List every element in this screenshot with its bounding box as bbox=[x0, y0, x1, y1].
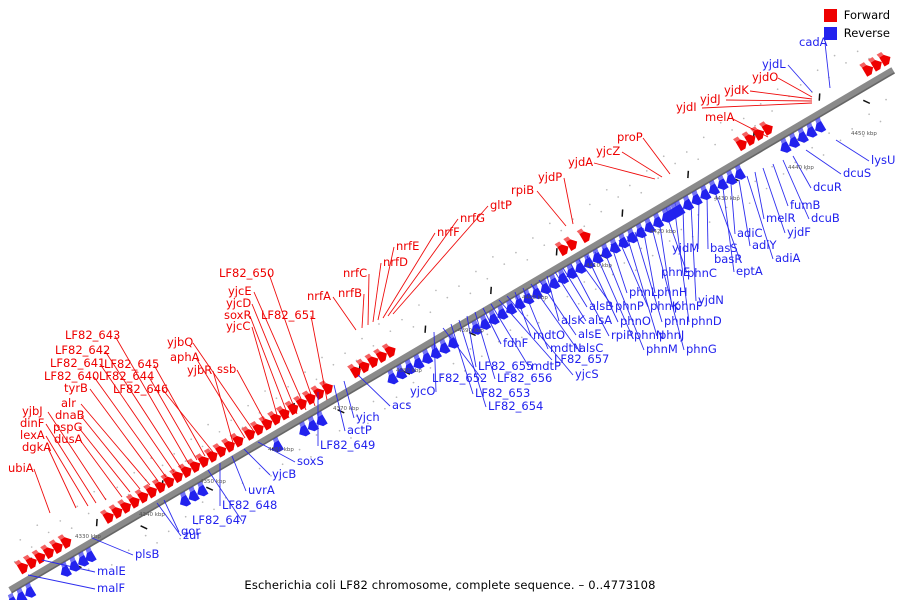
gene-label[interactable]: LF82_648 bbox=[222, 500, 277, 511]
guide-dot bbox=[640, 248, 642, 250]
guide-dot bbox=[401, 319, 403, 321]
genome-map-canvas: 4330 kbp4340 kbp4350 kbp4360 kbp4370 kbp… bbox=[0, 0, 900, 600]
guide-dot bbox=[583, 225, 585, 227]
guide-dot bbox=[754, 125, 756, 127]
gene-label[interactable]: yjcD bbox=[226, 298, 251, 309]
guide-dot bbox=[173, 453, 175, 455]
guide-dot bbox=[674, 163, 676, 165]
guide-dot bbox=[93, 491, 95, 493]
gene-label[interactable]: LF82_640 bbox=[44, 371, 99, 382]
guide-dot bbox=[116, 487, 118, 489]
gene-leader-line bbox=[594, 163, 655, 179]
guide-dot bbox=[339, 430, 341, 432]
gene-label[interactable]: yjcC bbox=[226, 321, 250, 332]
guide-dot bbox=[560, 230, 562, 232]
guide-dot bbox=[168, 531, 170, 533]
gene-label[interactable]: yjdM bbox=[672, 243, 699, 254]
guide-dot bbox=[71, 527, 73, 529]
guide-dot bbox=[162, 464, 164, 466]
guide-dot bbox=[333, 364, 335, 366]
figure-caption: Escherichia coli LF82 chromosome, comple… bbox=[0, 578, 900, 592]
guide-dot bbox=[321, 357, 323, 359]
guide-dot bbox=[686, 151, 688, 153]
gene-label[interactable]: eptA bbox=[736, 266, 763, 277]
legend: Forward Reverse bbox=[824, 8, 890, 44]
gene-leader-line bbox=[643, 228, 655, 293]
gene-leader-line bbox=[250, 316, 289, 418]
gene-label[interactable]: yjdA bbox=[568, 157, 593, 168]
scale-tick-label: 4430 kbp bbox=[714, 196, 740, 202]
gene-leader-line bbox=[773, 164, 788, 206]
guide-dot bbox=[526, 259, 528, 261]
gene-label[interactable]: phnL bbox=[629, 287, 657, 298]
guide-dot bbox=[709, 221, 711, 223]
gene-label[interactable]: lexA bbox=[20, 430, 45, 441]
gene-label[interactable]: rpiB bbox=[511, 185, 534, 196]
scale-tick-label: 4450 kbp bbox=[851, 131, 877, 137]
guide-dot bbox=[663, 155, 665, 157]
guide-dot bbox=[213, 508, 215, 510]
gene-label[interactable]: alsC bbox=[579, 343, 603, 354]
gene-label[interactable]: phnH bbox=[657, 287, 688, 298]
guide-dot bbox=[453, 363, 455, 365]
gene-label[interactable]: alsB bbox=[589, 301, 613, 312]
gene-label[interactable]: phnD bbox=[691, 316, 722, 327]
guide-dot bbox=[190, 438, 192, 440]
gene-leader-line bbox=[778, 78, 812, 97]
guide-dot bbox=[606, 189, 608, 191]
guide-dot bbox=[36, 524, 38, 526]
gene-arrow[interactable] bbox=[735, 164, 746, 179]
gene-leader-line bbox=[643, 138, 670, 174]
gene-label[interactable]: soxR bbox=[224, 310, 251, 321]
gene-label[interactable]: nrfA bbox=[307, 291, 331, 302]
gene-leader-line bbox=[81, 416, 140, 489]
gene-label[interactable]: aphA bbox=[170, 352, 200, 363]
gene-label[interactable]: melA bbox=[705, 112, 734, 123]
gene-label[interactable]: qor bbox=[181, 526, 200, 537]
guide-dot bbox=[743, 118, 745, 120]
gene-label[interactable]: yjdI bbox=[676, 102, 697, 113]
guide-dot bbox=[600, 211, 602, 213]
guide-dot bbox=[840, 140, 842, 142]
guide-dot bbox=[59, 520, 61, 522]
gene-leader-line bbox=[48, 448, 76, 508]
gene-label[interactable]: rpiR bbox=[611, 330, 634, 341]
guide-dot bbox=[549, 222, 551, 224]
scale-tick-label: 4380 kbp bbox=[396, 368, 422, 374]
gene-leader-line bbox=[237, 370, 268, 427]
guide-dot bbox=[487, 334, 489, 336]
gene-label[interactable]: nrfD bbox=[383, 257, 408, 268]
guide-dot bbox=[868, 113, 870, 115]
guide-dot bbox=[680, 229, 682, 231]
guide-dot bbox=[48, 532, 50, 534]
guide-dot bbox=[492, 256, 494, 258]
guide-dot bbox=[703, 137, 705, 139]
guide-dot bbox=[629, 185, 631, 187]
gene-leader-line bbox=[163, 390, 213, 452]
guide-dot bbox=[413, 326, 415, 328]
gene-leader-line bbox=[564, 178, 573, 224]
gene-label[interactable]: nrfC bbox=[343, 268, 367, 279]
gene-label[interactable]: mdtN bbox=[550, 343, 582, 354]
gene-label[interactable]: melR bbox=[766, 213, 795, 224]
guide-dot bbox=[287, 386, 289, 388]
guide-dot bbox=[316, 379, 318, 381]
gene-label[interactable]: yjbR bbox=[187, 365, 212, 376]
guide-dot bbox=[771, 166, 773, 168]
axis-tick-mark bbox=[206, 487, 213, 490]
guide-dot bbox=[475, 271, 477, 273]
guide-dot bbox=[731, 129, 733, 131]
guide-dot bbox=[657, 177, 659, 179]
guide-dot bbox=[652, 255, 654, 257]
guide-dot bbox=[543, 244, 545, 246]
guide-dot bbox=[834, 55, 836, 57]
gene-arrow[interactable] bbox=[14, 560, 28, 575]
scale-tick-label: 4410 kbp bbox=[586, 263, 612, 269]
guide-dot bbox=[373, 401, 375, 403]
guide-dot bbox=[344, 352, 346, 354]
gene-label[interactable]: nrfG bbox=[460, 213, 485, 224]
gene-arrow[interactable] bbox=[859, 62, 873, 77]
gene-label[interactable]: dusA bbox=[54, 434, 82, 445]
guide-dot bbox=[145, 535, 147, 537]
guide-dot bbox=[697, 158, 699, 160]
gene-leader-line bbox=[788, 65, 812, 92]
guide-dot bbox=[595, 288, 597, 290]
guide-dot bbox=[527, 315, 529, 317]
guide-dot bbox=[133, 472, 135, 474]
guide-dot bbox=[185, 460, 187, 462]
gene-label[interactable]: plsB bbox=[135, 549, 159, 560]
gene-label[interactable]: yjdL bbox=[762, 59, 786, 70]
legend-label-forward: Forward bbox=[844, 9, 890, 22]
gene-label[interactable]: acs bbox=[392, 400, 411, 411]
scale-tick-label: 4330 kbp bbox=[75, 534, 101, 540]
gene-label[interactable]: yjbQ bbox=[167, 337, 193, 348]
guide-dot bbox=[811, 147, 813, 149]
gene-label[interactable]: uvrA bbox=[248, 485, 275, 496]
gene-label[interactable]: adiY bbox=[752, 240, 777, 251]
gene-label[interactable]: LF82_641 bbox=[50, 358, 105, 369]
guide-dot bbox=[418, 304, 420, 306]
guide-dot bbox=[88, 568, 90, 570]
guide-dot bbox=[88, 513, 90, 515]
gene-label[interactable]: phnM bbox=[646, 344, 678, 355]
guide-dot bbox=[532, 237, 534, 239]
guide-dot bbox=[264, 390, 266, 392]
guide-dot bbox=[623, 262, 625, 264]
gene-leader-line bbox=[362, 294, 364, 328]
legend-item-forward[interactable]: Forward bbox=[824, 8, 890, 22]
guide-dot bbox=[316, 434, 318, 436]
gene-label[interactable]: yjcS bbox=[575, 369, 599, 380]
guide-dot bbox=[578, 303, 580, 305]
gene-label[interactable]: LF82_643 bbox=[65, 330, 120, 341]
gene-label[interactable]: LF82_644 bbox=[99, 371, 154, 382]
guide-dot bbox=[851, 128, 853, 130]
gene-label[interactable]: dcuS bbox=[843, 168, 871, 179]
gene-label[interactable]: fumB bbox=[790, 200, 820, 211]
guide-dot bbox=[828, 132, 830, 134]
gene-label[interactable]: malE bbox=[97, 566, 126, 577]
gene-label[interactable]: pspG bbox=[53, 422, 83, 433]
gene-leader-line bbox=[213, 371, 233, 443]
guide-dot bbox=[885, 99, 887, 101]
gene-label[interactable]: phnI bbox=[664, 316, 689, 327]
gene-label[interactable]: phnG bbox=[686, 344, 717, 355]
gene-leader-line bbox=[726, 100, 812, 101]
gene-arrow[interactable] bbox=[815, 117, 826, 132]
gene-leader-line bbox=[793, 156, 811, 188]
gene-label[interactable]: yjcB bbox=[272, 469, 296, 480]
gene-label[interactable]: tyrB bbox=[64, 383, 88, 394]
gene-label[interactable]: LF82_645 bbox=[104, 359, 159, 370]
gene-label[interactable]: alsE bbox=[578, 329, 602, 340]
gene-arrow[interactable] bbox=[733, 137, 747, 152]
gene-label[interactable]: malF bbox=[97, 583, 125, 594]
guide-dot bbox=[583, 281, 585, 283]
guide-dot bbox=[515, 252, 517, 254]
guide-dot bbox=[510, 329, 512, 331]
gene-label[interactable]: alsA bbox=[588, 315, 612, 326]
gene-leader-line bbox=[92, 538, 133, 555]
guide-dot bbox=[446, 297, 448, 299]
guide-dot bbox=[185, 516, 187, 518]
guide-dot bbox=[470, 293, 472, 295]
scale-tick-label: 4400 kbp bbox=[522, 295, 548, 301]
gene-label[interactable]: yjdF bbox=[787, 227, 811, 238]
gene-arrow[interactable] bbox=[577, 229, 591, 244]
guide-dot bbox=[219, 431, 221, 433]
axis-tick-mark bbox=[141, 526, 148, 529]
gene-label[interactable]: phnJ bbox=[659, 330, 684, 341]
legend-swatch-forward bbox=[824, 9, 837, 22]
guide-dot bbox=[128, 549, 130, 551]
gene-label[interactable]: yjcE bbox=[228, 286, 252, 297]
guide-dot bbox=[486, 278, 488, 280]
gene-leader-line bbox=[193, 343, 255, 433]
guide-dot bbox=[282, 463, 284, 465]
gene-leader-line bbox=[79, 428, 130, 492]
guide-dot bbox=[299, 449, 301, 451]
gene-label[interactable]: yjdK bbox=[724, 85, 749, 96]
gene-label[interactable]: dnaB bbox=[55, 410, 85, 421]
gene-leader-line bbox=[731, 184, 735, 234]
guide-dot bbox=[247, 405, 249, 407]
gene-leader-line bbox=[537, 191, 566, 226]
gene-leader-line bbox=[232, 456, 246, 491]
gene-label[interactable]: yjch bbox=[356, 412, 380, 423]
guide-dot bbox=[817, 69, 819, 71]
gene-label[interactable]: yjcZ bbox=[596, 146, 620, 157]
gene-label[interactable]: fdhF bbox=[503, 338, 528, 349]
gene-label[interactable]: adiA bbox=[775, 253, 800, 264]
gene-label[interactable]: soxS bbox=[297, 456, 324, 467]
legend-item-reverse[interactable]: Reverse bbox=[824, 26, 890, 40]
guide-dot bbox=[304, 371, 306, 373]
gene-label[interactable]: ssb bbox=[217, 364, 236, 375]
gene-label[interactable]: dgkA bbox=[22, 442, 51, 453]
guide-dot bbox=[259, 468, 261, 470]
gene-label[interactable]: dcuR bbox=[813, 182, 842, 193]
guide-dot bbox=[378, 323, 380, 325]
gene-label[interactable]: LF82_653 bbox=[475, 388, 530, 399]
gene-label[interactable]: yjdO bbox=[752, 72, 778, 83]
guide-dot bbox=[202, 446, 204, 448]
gene-label[interactable]: alr bbox=[61, 398, 76, 409]
scale-tick-label: 4360 kbp bbox=[268, 447, 294, 453]
gene-label[interactable]: mdtO bbox=[533, 330, 565, 341]
gene-label[interactable]: yjdJ bbox=[700, 94, 721, 105]
gene-leader-line bbox=[368, 274, 369, 325]
gene-leader-line bbox=[707, 196, 708, 249]
gene-arrow[interactable] bbox=[86, 547, 97, 562]
gene-leader-line bbox=[825, 43, 830, 88]
guide-dot bbox=[669, 240, 671, 242]
guide-dot bbox=[617, 196, 619, 198]
guide-dot bbox=[384, 408, 386, 410]
gene-label[interactable]: phnO bbox=[620, 316, 651, 327]
gene-label[interactable]: LF82_654 bbox=[488, 401, 543, 412]
guide-dot bbox=[754, 180, 756, 182]
guide-dot bbox=[435, 290, 437, 292]
guide-dot bbox=[714, 144, 716, 146]
guide-dot bbox=[390, 330, 392, 332]
guide-dot bbox=[503, 263, 505, 265]
genome-diagram bbox=[0, 0, 900, 600]
gene-leader-line bbox=[34, 469, 50, 513]
gene-label[interactable]: LF82_649 bbox=[320, 440, 375, 451]
guide-dot bbox=[646, 170, 648, 172]
gene-label[interactable]: LF82_650 bbox=[219, 268, 274, 279]
gene-label[interactable]: nrfE bbox=[396, 241, 419, 252]
gene-label[interactable]: proP bbox=[617, 132, 643, 143]
guide-dot bbox=[430, 311, 432, 313]
scale-tick-label: 4440 kbp bbox=[788, 165, 814, 171]
gene-label[interactable]: dcuB bbox=[811, 213, 840, 224]
legend-swatch-reverse bbox=[824, 27, 837, 40]
guide-dot bbox=[783, 173, 785, 175]
axis-tick-mark bbox=[863, 100, 870, 103]
guide-dot bbox=[458, 285, 460, 287]
guide-dot bbox=[640, 192, 642, 194]
gene-label[interactable]: LF82_642 bbox=[55, 345, 110, 356]
gene-label[interactable]: yjdN bbox=[698, 295, 724, 306]
gene-label[interactable]: yjdP bbox=[538, 172, 562, 183]
guide-dot bbox=[156, 542, 158, 544]
guide-dot bbox=[538, 322, 540, 324]
gene-label[interactable]: phnC bbox=[687, 268, 717, 279]
gene-label[interactable]: LF82_657 bbox=[554, 354, 609, 365]
gene-label[interactable]: dinF bbox=[20, 418, 44, 429]
scale-tick-label: 4350 kbp bbox=[200, 479, 226, 485]
scale-tick-label: 4390 kbp bbox=[458, 328, 484, 334]
guide-dot bbox=[230, 419, 232, 421]
guide-dot bbox=[589, 204, 591, 206]
guide-dot bbox=[635, 269, 637, 271]
gene-leader-line bbox=[755, 172, 764, 219]
guide-dot bbox=[373, 345, 375, 347]
scale-tick-label: 4340 kbp bbox=[139, 512, 165, 518]
guide-dot bbox=[207, 424, 209, 426]
guide-dot bbox=[76, 505, 78, 507]
guide-dot bbox=[771, 110, 773, 112]
gene-label[interactable]: LF82_652 bbox=[432, 373, 487, 384]
gene-leader-line bbox=[836, 140, 869, 161]
gene-leader-line bbox=[252, 327, 279, 422]
gene-leader-line bbox=[46, 436, 88, 506]
guide-dot bbox=[481, 355, 483, 357]
gene-leader-line bbox=[81, 404, 150, 485]
guide-dot bbox=[31, 546, 33, 548]
gene-leader-line bbox=[244, 449, 270, 475]
guide-dot bbox=[567, 296, 569, 298]
guide-dot bbox=[857, 51, 859, 53]
gene-label[interactable]: LF82_651 bbox=[261, 310, 316, 321]
guide-dot bbox=[276, 397, 278, 399]
gene-label[interactable]: phnE bbox=[661, 267, 690, 278]
gene-label[interactable]: gltP bbox=[490, 200, 512, 211]
legend-label-reverse: Reverse bbox=[844, 27, 890, 40]
gene-label[interactable]: alsK bbox=[561, 315, 585, 326]
gene-leader-line bbox=[333, 297, 356, 330]
guide-dot bbox=[470, 348, 472, 350]
guide-dot bbox=[19, 539, 21, 541]
gene-label[interactable]: yjbJ bbox=[22, 406, 43, 417]
gene-label[interactable]: nrfB bbox=[338, 288, 362, 299]
guide-dot bbox=[430, 367, 432, 369]
gene-arrow[interactable] bbox=[100, 509, 114, 524]
guide-dot bbox=[823, 154, 825, 156]
gene-label[interactable]: LF82_646 bbox=[113, 384, 168, 395]
guide-dot bbox=[880, 121, 882, 123]
guide-dot bbox=[800, 84, 802, 86]
guide-dot bbox=[202, 501, 204, 503]
gene-label[interactable]: LF82_656 bbox=[497, 373, 552, 384]
guide-dot bbox=[749, 202, 751, 204]
guide-dot bbox=[777, 88, 779, 90]
gene-label[interactable]: phnP bbox=[615, 301, 644, 312]
gene-label[interactable]: lysU bbox=[871, 155, 895, 166]
gene-label[interactable]: LF82_647 bbox=[192, 515, 247, 526]
gene-label[interactable]: ubiA bbox=[8, 463, 34, 474]
gene-label[interactable]: nrfF bbox=[437, 227, 460, 238]
guide-dot bbox=[766, 188, 768, 190]
scale-tick-label: 4420 kbp bbox=[650, 229, 676, 235]
guide-dot bbox=[760, 103, 762, 105]
guide-dot bbox=[361, 338, 363, 340]
gene-label[interactable]: yjcO bbox=[410, 386, 435, 397]
guide-dot bbox=[845, 62, 847, 64]
gene-label[interactable]: actP bbox=[347, 425, 372, 436]
